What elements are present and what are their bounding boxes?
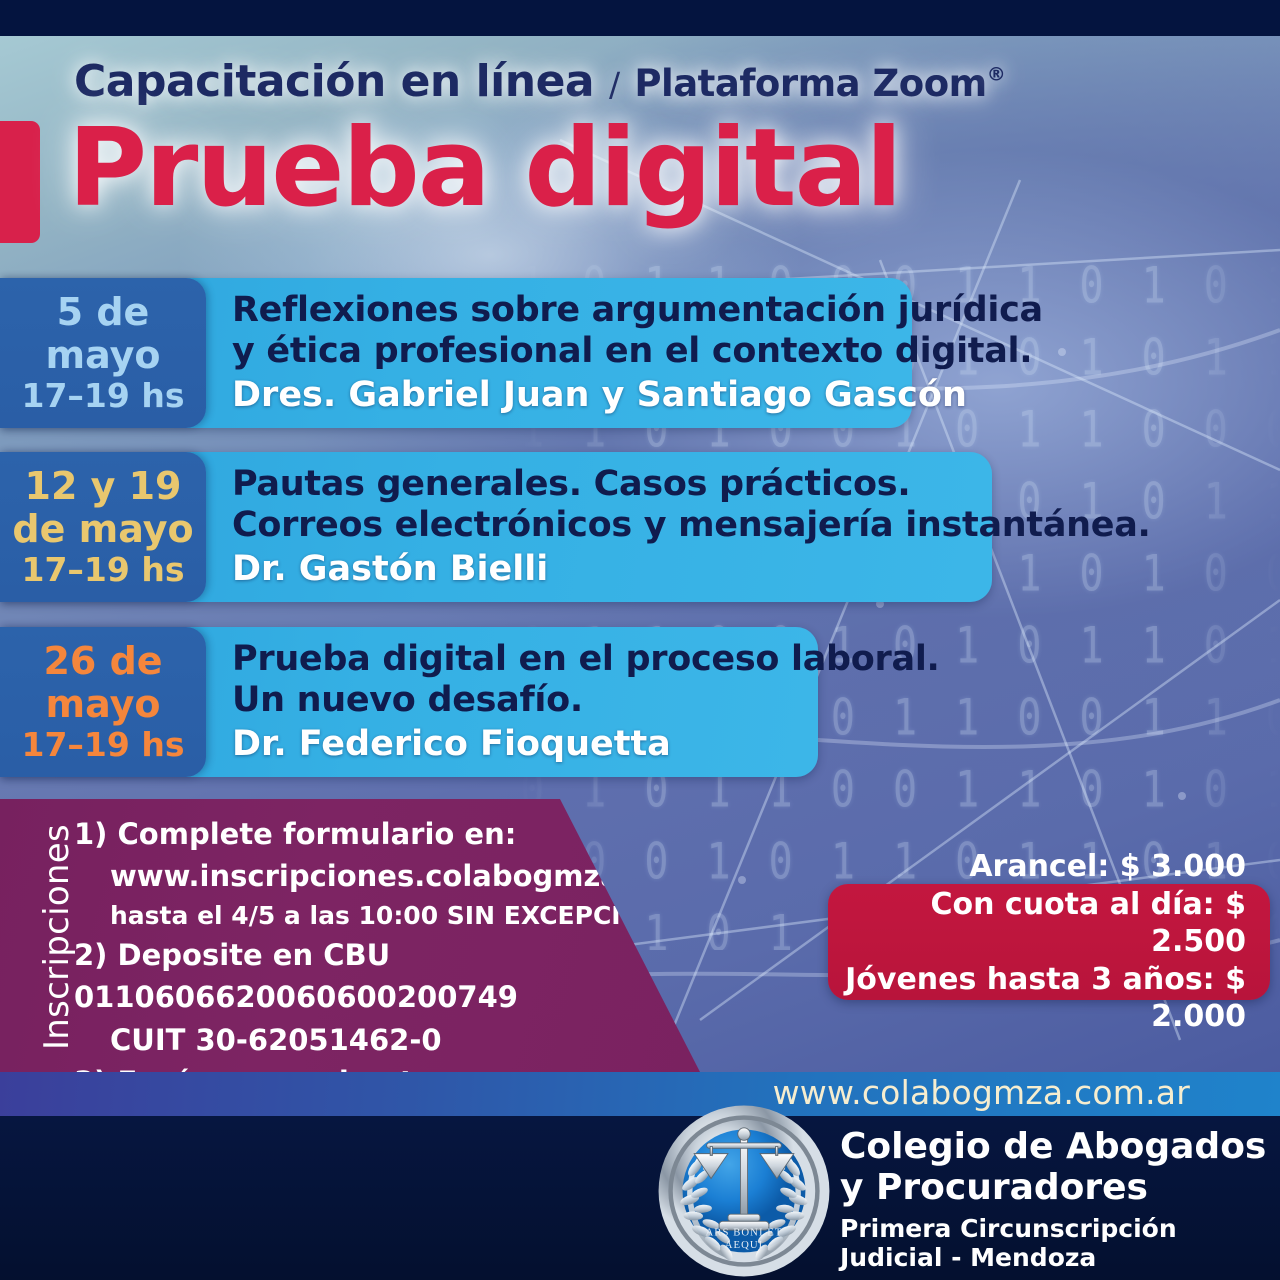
emblem-motto-line2: AEQUI [725, 1239, 764, 1251]
kicker-main-text: Capacitación en línea [74, 56, 594, 107]
session-1-line1: Reflexiones sobre argumentación jurídica [232, 290, 1043, 331]
flyer-root: 1 0 1 1 0 0 0 1 1 0 1 0 1 1 0 0 1 0 1 10… [0, 0, 1280, 1280]
session-1-date-line1: 5 de [57, 291, 150, 334]
trademark-symbol: ® [987, 63, 1006, 85]
session-2-date-line1: 12 y 19 [25, 465, 182, 508]
price-row-standard: Arancel: $ 3.000 [969, 848, 1246, 886]
kicker-separator: / [609, 65, 620, 104]
org-line-3: Primera Circunscripción Judicial - Mendo… [840, 1214, 1280, 1272]
org-line-2: y Procuradores [840, 1167, 1280, 1208]
session-1-time: 17–19 hs [22, 378, 185, 415]
session-3-date-line1: 26 de [43, 640, 162, 683]
registration-vertical-label: Inscripciones [37, 822, 77, 1052]
pricing-box: Arancel: $ 3.000 Con cuota al día: $ 2.5… [828, 884, 1270, 1000]
registration-step-2: 2) Deposite en CBU 011060662006060020074… [74, 934, 714, 1019]
session-3-text: Prueba digital en el proceso laboral. Un… [232, 627, 940, 777]
session-3-speaker: Dr. Federico Fioquetta [232, 724, 940, 765]
session-2-date-box: 12 y 19 de mayo 17–19 hs [0, 452, 206, 602]
session-2-speaker: Dr. Gastón Bielli [232, 549, 1151, 590]
website-url[interactable]: www.colabogmza.com.ar [773, 1073, 1190, 1112]
session-1-line2: y ética profesional en el contexto digit… [232, 331, 1043, 372]
session-1-date-box: 5 de mayo 17–19 hs [0, 278, 206, 428]
kicker-platform-text: Plataforma Zoom [634, 62, 986, 105]
session-2-line1: Pautas generales. Casos prácticos. [232, 464, 1151, 505]
org-line-1: Colegio de Abogados [840, 1126, 1280, 1167]
emblem-motto-line1: ARS BONI ET [706, 1227, 783, 1239]
session-1-text: Reflexiones sobre argumentación jurídica… [232, 278, 1043, 428]
session-3-line1: Prueba digital en el proceso laboral. [232, 639, 940, 680]
session-1-speaker: Dres. Gabriel Juan y Santiago Gascón [232, 375, 1043, 416]
price-row-young-lawyers: Jóvenes hasta 3 años: $ 2.000 [828, 961, 1246, 1036]
red-accent-tab [0, 121, 40, 243]
session-2-text: Pautas generales. Casos prácticos. Corre… [232, 452, 1151, 602]
price-row-member-current: Con cuota al día: $ 2.500 [828, 886, 1246, 961]
organization-name: Colegio de Abogados y Procuradores Prime… [840, 1126, 1280, 1272]
registration-step-2-cuit: CUIT 30-62051462-0 [74, 1019, 714, 1061]
colegio-emblem-logo: ARS BONI ET AEQUI [655, 1102, 833, 1280]
session-2-line2: Correos electrónicos y mensajería instan… [232, 505, 1151, 546]
session-3-date-box: 26 de mayo 17–19 hs [0, 627, 206, 777]
top-navy-bar [0, 0, 1280, 36]
session-1-date-line2: mayo [46, 334, 161, 377]
session-3-time: 17–19 hs [22, 727, 185, 764]
session-2-date-line2: de mayo [12, 508, 193, 551]
session-2-time: 17–19 hs [22, 552, 185, 589]
page-title: Prueba digital [68, 112, 901, 225]
kicker-line: Capacitación en línea / Plataforma Zoom® [74, 56, 1005, 107]
session-3-date-line2: mayo [46, 683, 161, 726]
session-3-line2: Un nuevo desafío. [232, 680, 940, 721]
